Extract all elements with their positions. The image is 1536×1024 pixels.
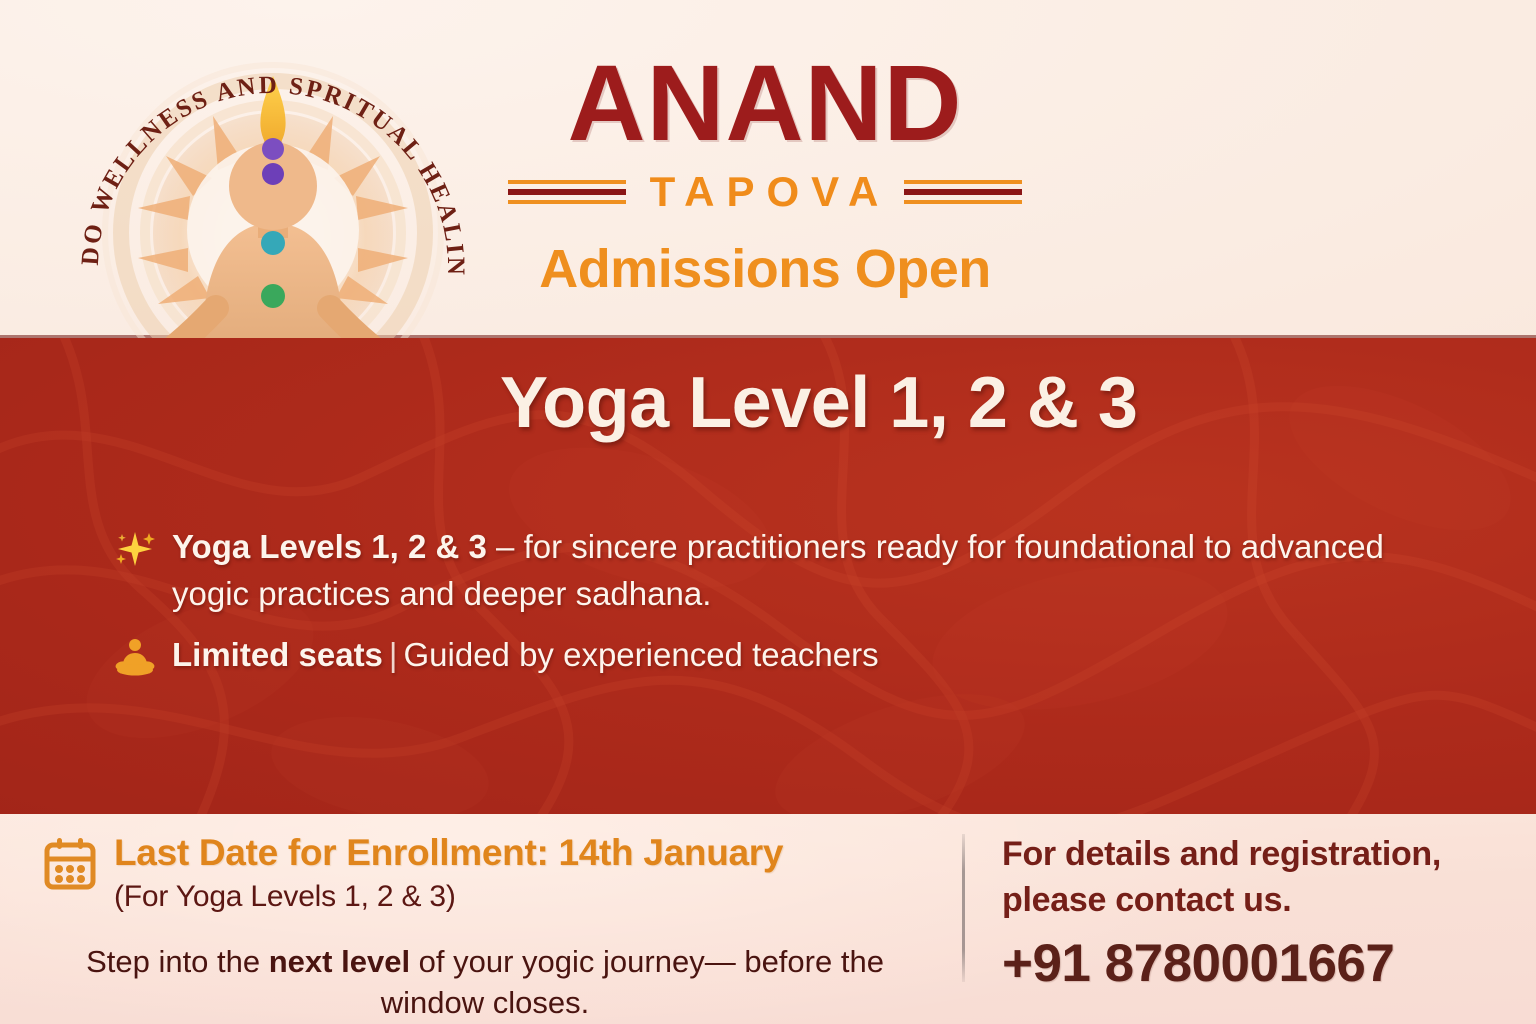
page-title: Yoga Level 1, 2 & 3 <box>500 362 1137 444</box>
bullet-separator: | <box>383 636 404 673</box>
poster-root: ANANDO WELLNESS AND SPRITUAL HEALING CE … <box>0 0 1536 1024</box>
rule-red-mid <box>904 189 1022 195</box>
contact-line-1: For details and registration, <box>1002 832 1522 878</box>
brand-sub-name: TAPOVA <box>640 168 891 216</box>
rule-orange-bottom <box>904 200 1022 204</box>
contact-phone-number[interactable]: +91 8780001667 <box>1002 933 1522 994</box>
rule-orange-bottom <box>508 200 626 204</box>
rule-orange-top <box>508 180 626 184</box>
enrollment-deadline: Last Date for Enrollment: 14th January <box>114 832 783 874</box>
rule-red-mid <box>508 189 626 195</box>
contact-line-2: please contact us. <box>1002 878 1522 924</box>
tagline: Step into the next level of your yogic j… <box>60 942 910 1024</box>
main-red-band: Yoga Level 1, 2 & 3 Yoga Levels 1, 2 & 3… <box>0 338 1536 814</box>
enrollment-subnote: (For Yoga Levels 1, 2 & 3) <box>114 880 783 914</box>
list-item: Limited seats|Guided by experienced teac… <box>112 632 1442 680</box>
brand-name: ANAND <box>505 48 1025 158</box>
tagline-part1: Step into the <box>86 944 269 979</box>
bullet-list: Yoga Levels 1, 2 & 3 – for sincere pract… <box>112 524 1442 680</box>
enrollment-text-group: Last Date for Enrollment: 14th January (… <box>114 832 783 914</box>
vertical-divider <box>962 834 965 982</box>
calendar-icon <box>42 836 98 892</box>
bullet-bold-levels: Yoga Levels 1, 2 & 3 <box>172 528 487 565</box>
admissions-open-label: Admissions Open <box>505 238 1025 300</box>
bullet-rest-seats: Guided by experienced teachers <box>404 636 879 673</box>
tagline-part2: of your yogic journey— before the window… <box>381 944 884 1020</box>
contact-block: For details and registration, please con… <box>1002 832 1522 994</box>
bullet-bold-seats: Limited seats <box>172 636 383 673</box>
bullet-text-seats: Limited seats|Guided by experienced teac… <box>172 632 879 679</box>
sparkle-icon <box>112 526 158 572</box>
footer-band: Last Date for Enrollment: 14th January (… <box>0 814 1536 1024</box>
enrollment-block: Last Date for Enrollment: 14th January (… <box>42 832 783 914</box>
rule-orange-top <box>904 180 1022 184</box>
rule-right <box>904 180 1022 204</box>
brand-subtitle-row: TAPOVA <box>505 168 1025 216</box>
rule-left <box>508 180 626 204</box>
brand-block: ANAND TAPOVA Admissions Open <box>505 48 1025 300</box>
list-item: Yoga Levels 1, 2 & 3 – for sincere pract… <box>112 524 1442 618</box>
meditation-person-icon <box>112 634 158 680</box>
bullet-text-levels: Yoga Levels 1, 2 & 3 – for sincere pract… <box>172 524 1442 618</box>
tagline-bold: next level <box>269 944 410 979</box>
